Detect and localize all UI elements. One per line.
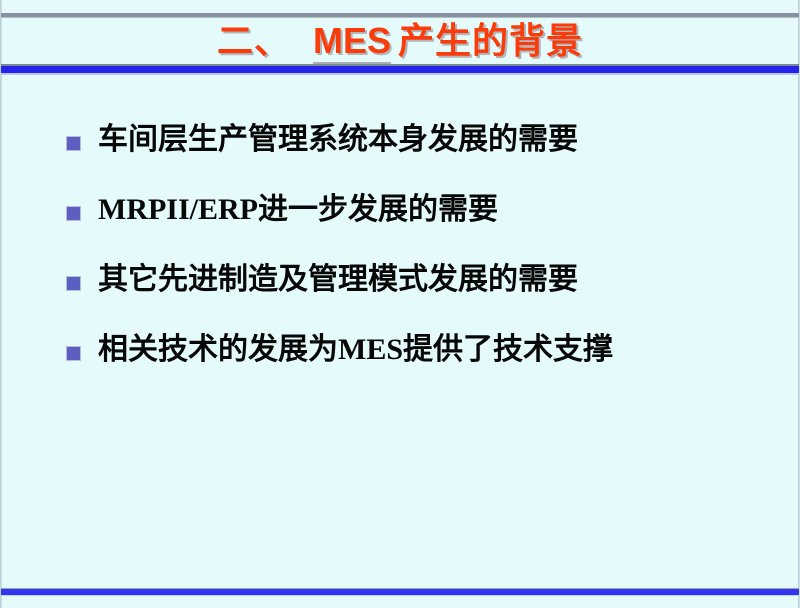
bullet-text: MRPII/ERP进一步发展的需要	[98, 190, 498, 230]
title-divider-rule	[1, 64, 799, 73]
square-bullet-icon	[66, 136, 81, 151]
bottom-divider-rule	[1, 588, 799, 595]
slide-title-line: 二、MES产生的背景	[217, 23, 583, 59]
list-item: 其它先进制造及管理模式发展的需要	[66, 260, 800, 330]
title-suffix: 产生的背景	[398, 21, 583, 61]
bullet-text: 车间层生产管理系统本身发展的需要	[98, 120, 578, 160]
slide-title: 二、MES产生的背景	[0, 17, 800, 64]
title-highlight-mes: MES	[313, 20, 391, 64]
square-bullet-icon	[66, 346, 81, 361]
title-prefix: 二、	[217, 21, 291, 61]
list-item: MRPII/ERP进一步发展的需要	[66, 190, 800, 260]
square-bullet-icon	[66, 276, 81, 291]
bullet-text: 其它先进制造及管理模式发展的需要	[98, 260, 578, 300]
square-bullet-icon	[66, 206, 81, 221]
slide-body: 车间层生产管理系统本身发展的需要 MRPII/ERP进一步发展的需要 其它先进制…	[0, 120, 800, 400]
presentation-slide: 二、MES产生的背景 车间层生产管理系统本身发展的需要 MRPII/ERP进一步…	[0, 0, 800, 608]
bullet-text: 相关技术的发展为MES提供了技术支撑	[98, 330, 613, 370]
list-item: 相关技术的发展为MES提供了技术支撑	[66, 330, 800, 400]
list-item: 车间层生产管理系统本身发展的需要	[66, 120, 800, 190]
